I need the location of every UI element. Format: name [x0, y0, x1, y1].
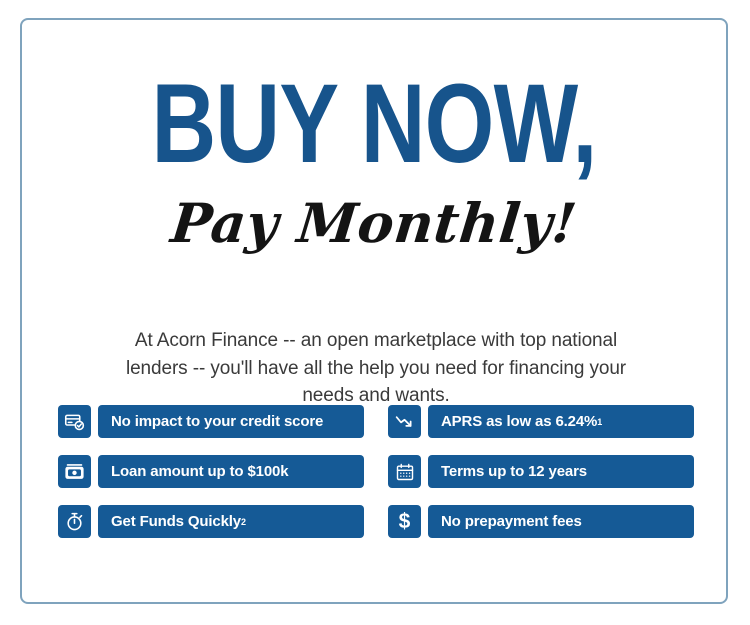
feature-label: APRS as low as 6.24%1	[428, 405, 694, 438]
feature-list: No impact to your credit score APRS as l…	[58, 405, 694, 538]
feature-label: No prepayment fees	[428, 505, 694, 538]
intro-paragraph: At Acorn Finance -- an open marketplace …	[122, 327, 630, 410]
feature-item: $ No prepayment fees	[388, 505, 694, 538]
promo-card: BUY NOW, Pay Monthly! At Acorn Finance -…	[20, 18, 728, 604]
feature-item: Loan amount up to $100k	[58, 455, 364, 488]
feature-label: No impact to your credit score	[98, 405, 364, 438]
page-subtitle: Pay Monthly!	[19, 196, 729, 250]
feature-item: Get Funds Quickly2	[58, 505, 364, 538]
banknote-icon	[58, 455, 91, 488]
feature-item: No impact to your credit score	[58, 405, 364, 438]
calendar-icon	[388, 455, 421, 488]
feature-label: Loan amount up to $100k	[98, 455, 364, 488]
feature-label: Get Funds Quickly2	[98, 505, 364, 538]
dollar-glyph: $	[399, 511, 411, 532]
page-title: BUY NOW,	[92, 76, 655, 172]
trending-down-icon	[388, 405, 421, 438]
feature-item: APRS as low as 6.24%1	[388, 405, 694, 438]
credit-card-check-icon	[58, 405, 91, 438]
feature-label: Terms up to 12 years	[428, 455, 694, 488]
stopwatch-icon	[58, 505, 91, 538]
dollar-sign-icon: $	[388, 505, 421, 538]
feature-item: Terms up to 12 years	[388, 455, 694, 488]
